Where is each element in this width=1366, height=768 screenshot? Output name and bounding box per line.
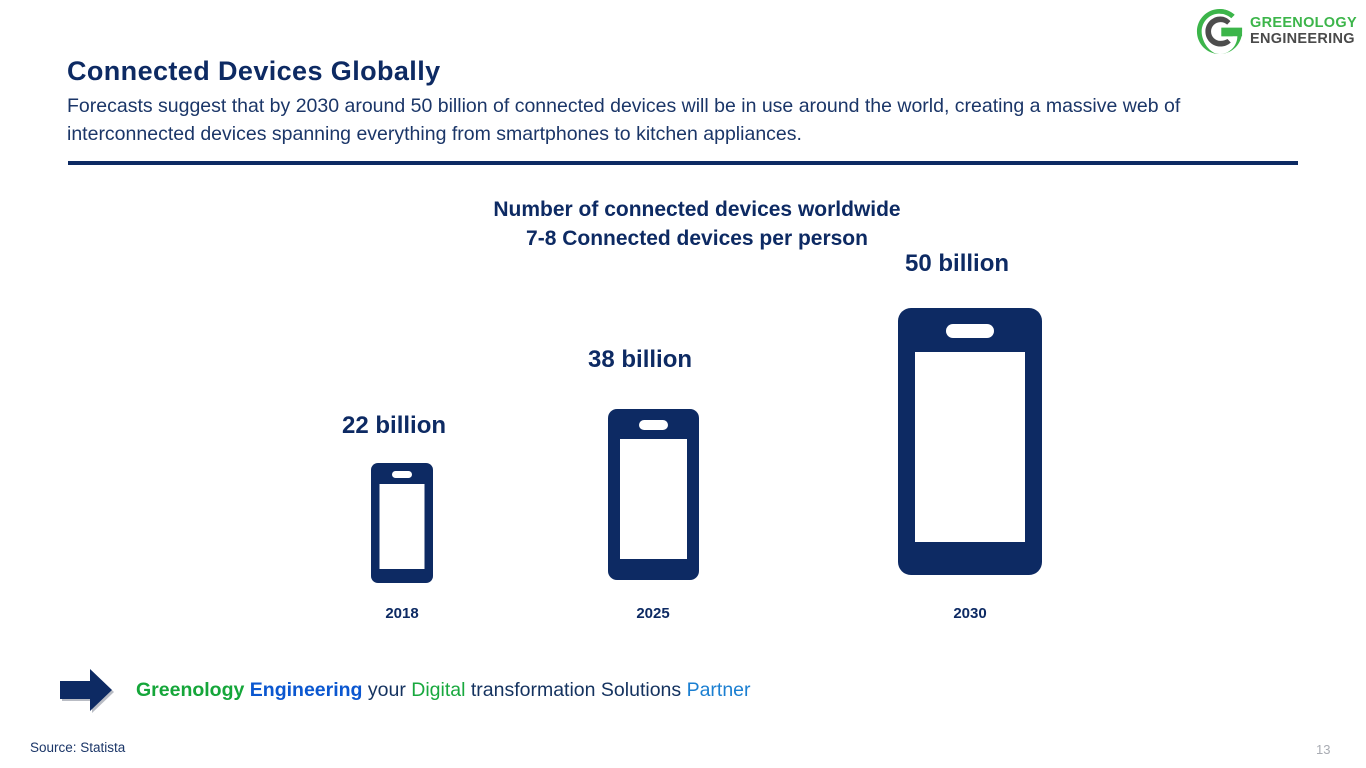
source-note: Source: Statista — [30, 740, 125, 755]
tagline-row: Greenology Engineering your Digital tran… — [60, 666, 751, 714]
year-label-2018: 2018 — [352, 605, 452, 622]
tagline-part-your: your — [368, 679, 406, 701]
year-label-2025: 2025 — [603, 605, 703, 622]
smartphone-icon-2030 — [898, 308, 1042, 575]
smartphone-icon-2018 — [371, 463, 433, 583]
smartphone-icon-2025 — [608, 409, 699, 580]
tagline-text: Greenology Engineering your Digital tran… — [136, 679, 751, 702]
page-number: 13 — [1316, 742, 1330, 757]
value-label-2030: 50 billion — [905, 250, 1009, 278]
slide: GREENOLOGY ENGINEERING Connected Devices… — [0, 0, 1366, 768]
year-label-2030: 2030 — [920, 605, 1020, 622]
tagline-part-engineering: Engineering — [250, 679, 363, 701]
tagline-part-partner: Partner — [687, 679, 751, 701]
value-label-2018: 22 billion — [342, 412, 446, 440]
tagline-part-greenology: Greenology — [136, 679, 244, 701]
tagline-part-transformation-solutions: transformation Solutions — [471, 679, 681, 701]
value-label-2025: 38 billion — [588, 346, 692, 374]
connected-devices-pictogram-chart: 22 billion 2018 38 billion 2025 50 billi… — [0, 0, 1366, 768]
right-arrow-icon — [60, 666, 114, 714]
tagline-part-digital: Digital — [411, 679, 465, 701]
